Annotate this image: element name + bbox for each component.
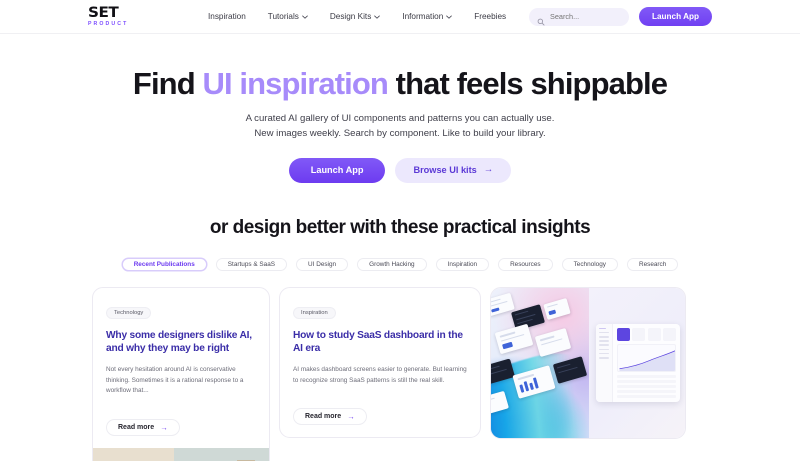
article-grid: Technology Why some designers dislike AI… <box>0 287 800 461</box>
article-card-body: Inspiration How to study SaaS dashboard … <box>280 288 480 438</box>
kpi-card <box>648 328 661 341</box>
dashboard-kpi-row <box>617 328 676 341</box>
read-more-label: Read more <box>118 424 154 431</box>
browse-ui-kits-label: Browse UI kits <box>413 165 476 175</box>
article-card-body: Technology Why some designers dislike AI… <box>93 288 269 448</box>
hero-title-part1: Find <box>133 66 203 101</box>
search-box[interactable] <box>529 8 629 26</box>
article-card[interactable]: Technology Why some designers dislike AI… <box>92 287 270 461</box>
arrow-right-icon: → <box>160 423 168 432</box>
hero-subtitle: A curated AI gallery of UI components an… <box>0 111 800 142</box>
arrow-right-icon: → <box>347 412 355 421</box>
page-title: Find UI inspiration that feels shippable <box>0 66 800 102</box>
media-panels <box>490 287 686 439</box>
gradient-collage-image[interactable] <box>491 288 589 438</box>
dashboard-chart <box>617 344 676 372</box>
tab-inspiration[interactable]: Inspiration <box>436 258 490 271</box>
nav-item-freebies[interactable]: Freebies <box>474 12 506 21</box>
logo-secondary-text: PRODUCT <box>88 22 146 27</box>
launch-app-button-hero[interactable]: Launch App <box>289 158 386 183</box>
dashboard-main <box>613 324 680 402</box>
nav-item-design-kits[interactable]: Design Kits <box>330 12 380 21</box>
category-tabs: Recent Publications Startups & SaaS UI D… <box>0 258 800 271</box>
tab-ui-design[interactable]: UI Design <box>296 258 348 271</box>
tab-recent-publications[interactable]: Recent Publications <box>122 258 207 271</box>
nav-item-tutorials[interactable]: Tutorials <box>268 12 308 21</box>
chevron-down-icon <box>446 14 452 20</box>
nav-item-inspiration[interactable]: Inspiration <box>208 12 246 21</box>
nav-item-information[interactable]: Information <box>402 12 452 21</box>
article-excerpt: AI makes dashboard screens easier to gen… <box>293 365 467 386</box>
dashboard-sidebar <box>596 324 613 402</box>
launch-app-button-header[interactable]: Launch App <box>639 7 712 26</box>
article-thumbnail <box>93 448 269 461</box>
nav-label: Tutorials <box>268 12 299 21</box>
tab-resources[interactable]: Resources <box>498 258 553 271</box>
kpi-card <box>632 328 645 341</box>
site-header: SET PRODUCT Inspiration Tutorials Design… <box>0 0 800 34</box>
article-card[interactable]: Inspiration How to study SaaS dashboard … <box>279 287 481 439</box>
mini-screen <box>543 298 570 320</box>
dashboard-mockup-image[interactable] <box>589 288 686 438</box>
chevron-down-icon <box>374 14 380 20</box>
status-badge: Inspiration <box>293 307 336 319</box>
mini-screen <box>535 328 572 357</box>
read-more-label: Read more <box>305 413 341 420</box>
main-navigation: Inspiration Tutorials Design Kits Inform… <box>208 12 506 21</box>
article-excerpt: Not every hesitation around AI is conser… <box>106 365 256 397</box>
search-icon <box>537 13 545 21</box>
tab-technology[interactable]: Technology <box>562 258 618 271</box>
tab-growth-hacking[interactable]: Growth Hacking <box>357 258 426 271</box>
read-more-button[interactable]: Read more → <box>106 419 180 436</box>
kpi-card <box>663 328 676 341</box>
search-input[interactable] <box>550 12 621 21</box>
hero-cta-group: Launch App Browse UI kits → <box>0 158 800 183</box>
dashboard-table <box>617 375 676 398</box>
nav-label: Information <box>402 12 443 21</box>
browse-ui-kits-button[interactable]: Browse UI kits → <box>395 158 511 183</box>
nav-label: Design Kits <box>330 12 371 21</box>
kpi-card <box>617 328 630 341</box>
hero-subtitle-line1: A curated AI gallery of UI components an… <box>246 113 555 124</box>
read-more-button[interactable]: Read more → <box>293 408 367 425</box>
hero-subtitle-line2: New images weekly. Search by component. … <box>254 128 545 139</box>
chevron-down-icon <box>302 14 308 20</box>
nav-label: Inspiration <box>208 12 246 21</box>
tab-startups-saas[interactable]: Startups & SaaS <box>216 258 287 271</box>
hero-section: Find UI inspiration that feels shippable… <box>0 34 800 183</box>
article-title: How to study SaaS dashboard in the AI er… <box>293 329 467 357</box>
header-actions: Launch App <box>529 7 712 26</box>
tab-research[interactable]: Research <box>627 258 678 271</box>
logo[interactable]: SET PRODUCT <box>88 6 146 27</box>
section-title: or design better with these practical in… <box>0 217 800 239</box>
status-badge: Technology <box>106 307 151 319</box>
dashboard-frame <box>596 324 680 402</box>
nav-label: Freebies <box>474 12 506 21</box>
article-title: Why some designers dislike AI, and why t… <box>106 329 256 357</box>
hero-title-part2: that feels shippable <box>388 66 667 101</box>
logo-primary-text: SET <box>88 6 149 21</box>
hero-title-accent: UI inspiration <box>202 66 387 101</box>
arrow-right-icon: → <box>484 165 494 175</box>
mini-screen <box>495 323 534 354</box>
